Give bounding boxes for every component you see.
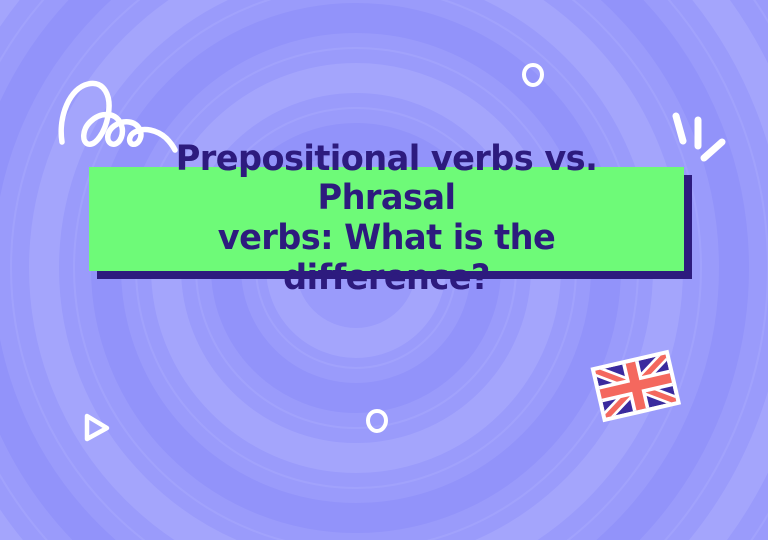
title-card: Prepositional verbs vs. Phrasal verbs: W… <box>89 167 684 271</box>
title-card-canvas: Prepositional verbs vs. Phrasal verbs: W… <box>0 0 768 540</box>
union-jack-flag-icon <box>590 344 682 430</box>
title-block: Prepositional verbs vs. Phrasal verbs: W… <box>89 167 684 271</box>
page-title: Prepositional verbs vs. Phrasal verbs: W… <box>114 140 658 298</box>
